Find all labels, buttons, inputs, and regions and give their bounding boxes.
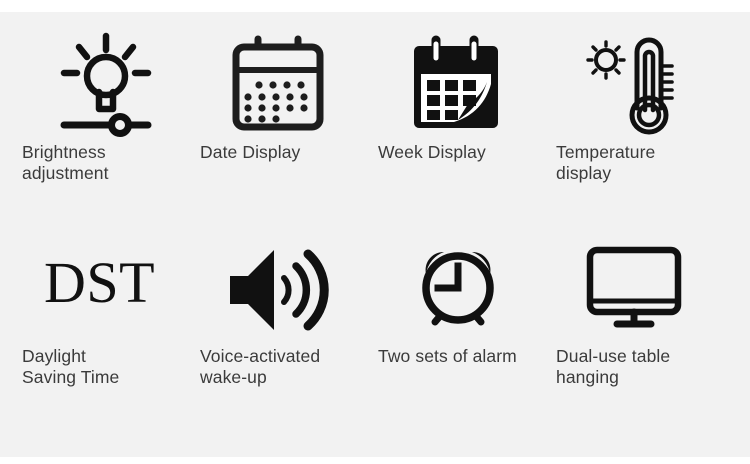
feature-grid: Brightness adjustment: [0, 12, 750, 457]
feature-item-two-sets-of-alarm: Two sets of alarm: [378, 234, 553, 419]
alarm-clock-icon: [406, 236, 510, 336]
speaker-waves-icon: [222, 240, 332, 340]
feature-label: Temperature display: [556, 142, 728, 185]
dst-text-icon: DST: [44, 240, 155, 326]
thermometer-sun-icon: [582, 30, 686, 140]
icon-container: [378, 234, 553, 344]
feature-item-dual-use-table-hanging: Dual-use table hanging: [556, 234, 731, 419]
feature-label: Brightness adjustment: [22, 142, 194, 185]
icon-container: [200, 30, 375, 140]
icon-container: [200, 234, 375, 344]
icon-container: [22, 30, 197, 140]
monitor-stand-icon: [584, 246, 688, 330]
feature-grid-page: Brightness adjustment: [0, 0, 750, 464]
feature-label: Voice-activated wake-up: [200, 346, 372, 389]
calendar-filled-icon: [408, 32, 504, 136]
icon-container: [556, 30, 731, 140]
feature-item-brightness-adjustment: Brightness adjustment: [22, 30, 197, 215]
icon-container: [556, 234, 731, 344]
feature-item-voice-activated-wake-up: Voice-activated wake-up: [200, 234, 375, 419]
feature-label: Date Display: [200, 142, 372, 163]
feature-label: Dual-use table hanging: [556, 346, 728, 389]
feature-label: Two sets of alarm: [378, 346, 550, 367]
feature-label: Daylight Saving Time: [22, 346, 194, 389]
feature-panel: Brightness adjustment: [0, 12, 750, 457]
lightbulb-slider-icon: [50, 32, 162, 138]
calendar-dots-icon: [228, 32, 328, 136]
feature-item-daylight-saving-time: DST Daylight Saving Time: [22, 234, 197, 419]
icon-container: [378, 30, 553, 140]
feature-item-week-display: Week Display: [378, 30, 553, 215]
feature-item-temperature-display: Temperature display: [556, 30, 731, 215]
feature-item-date-display: Date Display: [200, 30, 375, 215]
feature-label: Week Display: [378, 142, 550, 163]
icon-container: DST: [22, 234, 197, 344]
